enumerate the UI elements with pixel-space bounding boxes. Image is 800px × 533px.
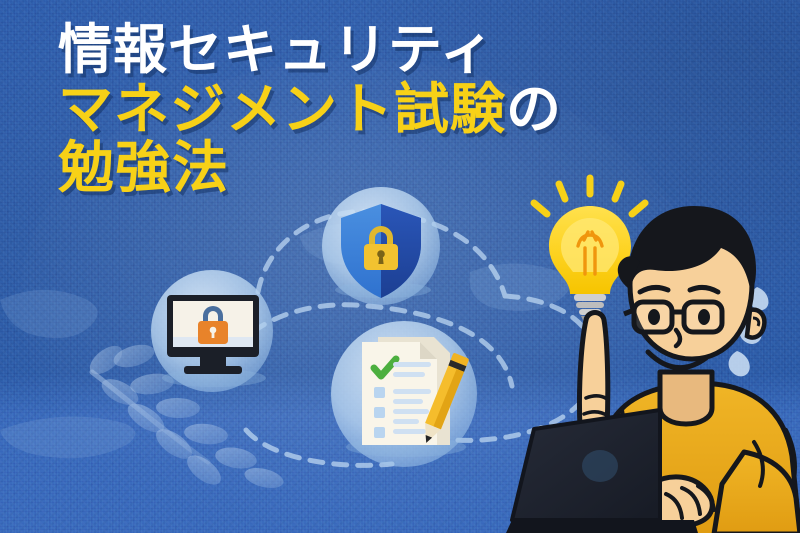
title-line-3: 勉強法: [58, 140, 562, 197]
monitor-lock-icon: [151, 270, 273, 392]
title-line-2: マネジメント試験の: [58, 81, 562, 137]
checklist-pencil-icon: [331, 321, 477, 467]
title-line-1: 情報セキュリティ: [58, 22, 562, 77]
title-block: 情報セキュリティ マネジメント試験の 勉強法: [58, 22, 562, 197]
title-line-2-yellow: マネジメント試験: [58, 77, 506, 141]
title-line-2-white: の: [506, 77, 562, 141]
shield-lock-icon: [322, 187, 440, 305]
hero-banner: 情報セキュリティ マネジメント試験の 勉強法: [0, 0, 800, 533]
lightbulb-icon: [534, 178, 645, 322]
